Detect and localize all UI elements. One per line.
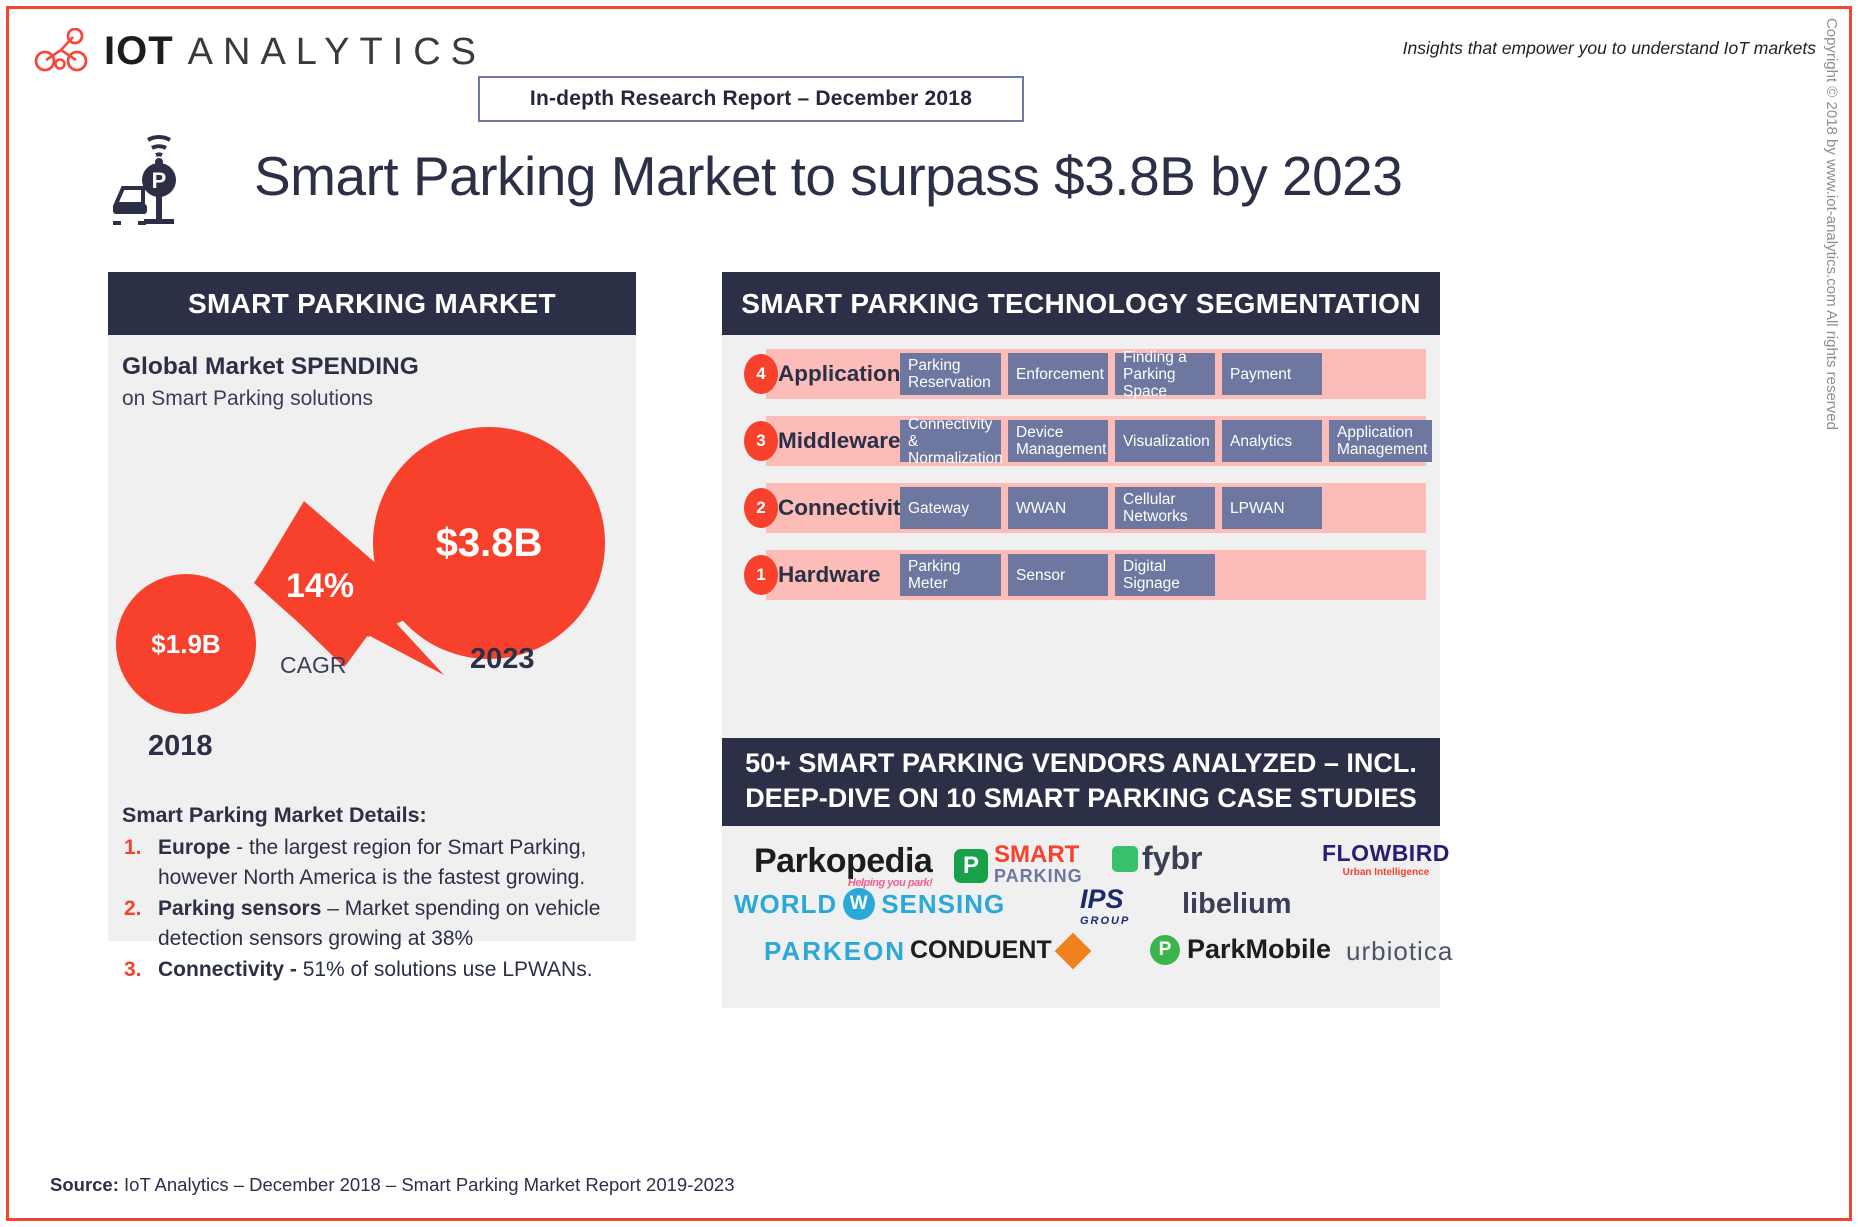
segmentation-row-hardware: 1 Hardware Parking Meter Sensor Digital … [722,550,1440,600]
list-item-number: 1. [118,833,158,893]
chip[interactable]: Analytics [1222,420,1322,462]
chip[interactable]: LPWAN [1222,487,1322,529]
list-item: 1. Europe - the largest region for Smart… [118,833,630,893]
details-header: Smart Parking Market Details: [122,803,427,828]
vendor-logo-ips-group: IPS GROUP [1080,884,1130,927]
vendor-logo-urbiotica: urbiotica [1346,936,1453,967]
copyright-notice: Copyright © 2018 by www.iot-analytics.co… [1823,18,1840,430]
layer-chips: Gateway WWAN Cellular Networks LPWAN [900,487,1322,529]
tagline: Insights that empower you to understand … [1403,38,1816,59]
vendor-name: FLOWBIRD [1322,840,1450,866]
cagr-value: 14% [286,567,354,606]
layer-badge: 2 [744,488,778,528]
vendor-logo-fybr: fybr [1112,840,1202,877]
chip[interactable]: Finding a Parking Space [1115,353,1215,395]
market-value-2018-circle: $1.9B [116,574,256,714]
chip[interactable]: Enforcement [1008,353,1108,395]
layer-badge: 3 [744,421,778,461]
chip[interactable]: Payment [1222,353,1322,395]
layer-badge: 1 [744,555,778,595]
parking-p-icon: P [954,849,988,883]
layer-chips: Parking Reservation Enforcement Finding … [900,353,1322,395]
market-value-2023: $3.8B [436,521,543,566]
worldsensing-w-icon: W [843,888,875,920]
list-item-text: Connectivity - 51% of solutions use LPWA… [158,955,630,985]
vendor-logo-libelium: libelium [1182,888,1292,921]
list-item-text: Parking sensors – Market spending on veh… [158,894,630,954]
chip[interactable]: Application Management [1329,420,1432,462]
source-note: Source: IoT Analytics – December 2018 – … [50,1174,735,1196]
vendor-name: IPS [1080,884,1124,914]
list-item-bold: Europe [158,836,230,859]
vendors-header: 50+ SMART PARKING VENDORS ANALYZED – INC… [722,738,1440,826]
spending-title: Global Market SPENDING [122,353,419,381]
spending-subtitle: on Smart Parking solutions [122,387,373,411]
cagr-label: CAGR [280,652,346,679]
iot-analytics-logo: IOT ANALYTICS [34,28,486,74]
layer-name: Applications [778,349,913,399]
vendor-name: Parkopedia [754,842,932,880]
source-label: Source: [50,1174,119,1195]
vendor-logo-parkeon: PARKEON [764,936,906,967]
left-panel-header: SMART PARKING MARKET [108,272,636,335]
vendor-name: CONDUENT [910,936,1052,965]
vendor-logo-flowbird: FLOWBIRD Urban Intelligence [1322,840,1450,878]
layer-name: Connectivity [778,483,913,533]
details-list: 1. Europe - the largest region for Smart… [118,833,630,986]
fybr-square-icon [1112,846,1138,872]
vendor-logo-smart-parking: P SMARTPARKING [954,844,1083,887]
list-item-bold: Connectivity - [158,958,297,981]
vendors-header-line2: DEEP-DIVE ON 10 SMART PARKING CASE STUDI… [722,781,1440,816]
layer-chips: Connectivity & Normalization Device Mana… [900,420,1432,462]
network-nodes-icon [34,28,90,74]
chip[interactable]: WWAN [1008,487,1108,529]
chip[interactable]: Gateway [900,487,1001,529]
segmentation-row-applications: 4 Applications Parking Reservation Enfor… [722,349,1440,399]
segmentation-row-connectivity: 2 Connectivity Gateway WWAN Cellular Net… [722,483,1440,533]
vendor-logo-worldsensing: WORLD W SENSING [734,888,1005,920]
list-item-rest: 51% of solutions use LPWANs. [297,958,593,981]
vendor-logo-parkmobile: P ParkMobile [1150,934,1331,965]
left-panel-body: Global Market SPENDING on Smart Parking … [108,335,636,941]
chip[interactable]: Sensor [1008,554,1108,596]
list-item-text: Europe - the largest region for Smart Pa… [158,833,630,893]
chip[interactable]: Digital Signage [1115,554,1215,596]
vendor-logo-parkopedia: Parkopedia Helping you park! [754,842,932,889]
source-text: IoT Analytics – December 2018 – Smart Pa… [119,1174,735,1195]
list-item: 2. Parking sensors – Market spending on … [118,894,630,954]
layer-badge: 4 [744,354,778,394]
market-value-2018: $1.9B [151,629,220,660]
logo-text-iot: IOT [104,29,174,74]
parkmobile-p-icon: P [1150,935,1180,965]
segmentation-layers: 4 Applications Parking Reservation Enfor… [722,335,1440,738]
smart-parking-market-panel: SMART PARKING MARKET Global Market SPEND… [108,272,636,941]
segmentation-row-middleware: 3 Middleware Connectivity & Normalizatio… [722,416,1440,466]
vendor-name: fybr [1142,840,1202,877]
year-label-2023: 2023 [470,643,535,676]
smart-parking-sign-icon: P [110,122,228,230]
vendor-logo-conduent: CONDUENT [910,936,1086,965]
layer-name: Hardware [778,550,881,600]
chip[interactable]: Device Management [1008,420,1108,462]
list-item-number: 3. [118,955,158,985]
report-banner: In-depth Research Report – December 2018 [478,76,1024,122]
market-value-2023-circle: $3.8B [373,427,605,659]
chip[interactable]: Cellular Networks [1115,487,1215,529]
chip[interactable]: Visualization [1115,420,1215,462]
vendor-logos: Parkopedia Helping you park! P SMARTPARK… [722,826,1440,1008]
list-item-bold: Parking sensors [158,897,321,920]
page-title: Smart Parking Market to surpass $3.8B by… [254,144,1402,208]
technology-segmentation-panel: SMART PARKING TECHNOLOGY SEGMENTATION 4 … [722,272,1440,1008]
vendor-name: ParkMobile [1187,934,1331,965]
list-item-number: 2. [118,894,158,954]
list-item: 3. Connectivity - 51% of solutions use L… [118,955,630,985]
right-panel-header: SMART PARKING TECHNOLOGY SEGMENTATION [722,272,1440,335]
chip[interactable]: Parking Reservation [900,353,1001,395]
chip[interactable]: Parking Meter [900,554,1001,596]
vendor-subtitle: Urban Intelligence [1322,867,1450,878]
logo-text-analytics: ANALYTICS [188,31,486,74]
vendors-header-line1: 50+ SMART PARKING VENDORS ANALYZED – INC… [722,746,1440,781]
svg-text:P: P [152,168,167,193]
chip[interactable]: Connectivity & Normalization [900,420,1001,462]
title-row: P Smart Parking Market to surpass $3.8B … [110,122,1402,230]
vendor-subtitle: GROUP [1080,915,1130,927]
vendor-name: SMARTPARKING [994,844,1083,887]
layer-chips: Parking Meter Sensor Digital Signage [900,554,1215,596]
layer-name: Middleware [778,416,901,466]
year-label-2018: 2018 [148,730,213,763]
conduent-diamond-icon [1054,932,1091,969]
